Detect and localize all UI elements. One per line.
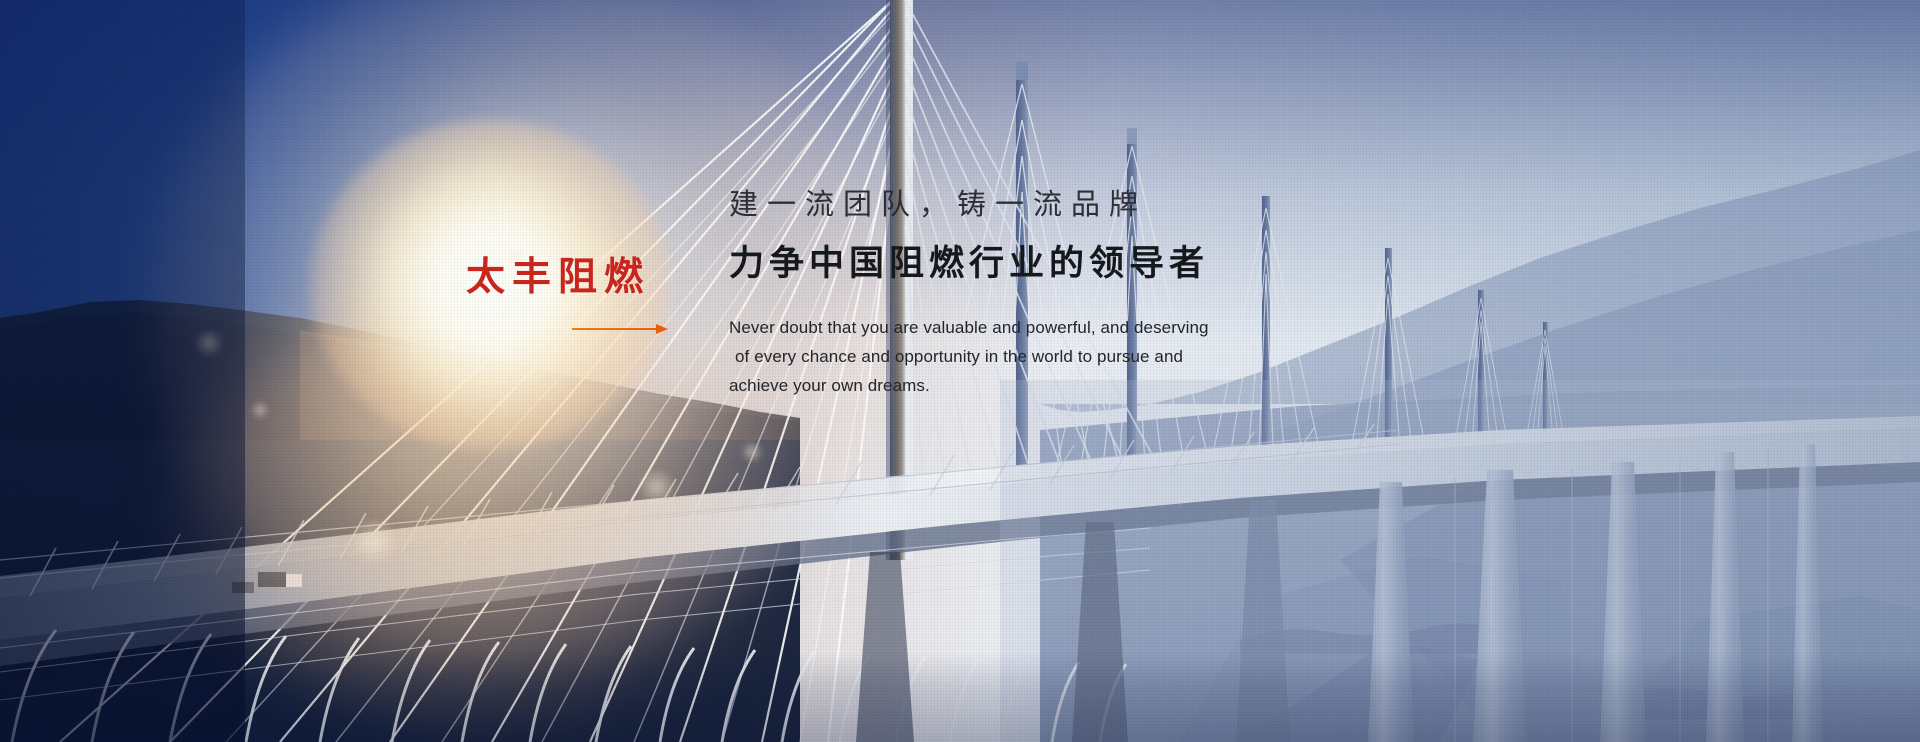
- paragraph-line-1: Never doubt that you are valuable and po…: [729, 313, 1349, 342]
- headline-paragraph: Never doubt that you are valuable and po…: [729, 313, 1349, 400]
- banner-content: 太丰阻燃 建一流团队，铸一流品牌 力争中国阻燃行业的领导者 Never doub…: [0, 0, 1920, 742]
- hero-banner: 太丰阻燃 建一流团队，铸一流品牌 力争中国阻燃行业的领导者 Never doub…: [0, 0, 1920, 742]
- arrow-head: [656, 324, 668, 334]
- headline-title: 力争中国阻燃行业的领导者: [729, 244, 1349, 284]
- paragraph-line-2: of every chance and opportunity in the w…: [729, 342, 1349, 371]
- paragraph-line-3: achieve your own dreams.: [729, 371, 1349, 400]
- brand-logo-text: 太丰阻燃: [466, 258, 696, 297]
- arrow-shaft: [572, 328, 658, 330]
- arrow-right-icon: [572, 323, 668, 335]
- headline-subtitle: 建一流团队，铸一流品牌: [729, 188, 1349, 221]
- headline-copy-block: 建一流团队，铸一流品牌 力争中国阻燃行业的领导者 Never doubt tha…: [729, 188, 1349, 400]
- brand-logo[interactable]: 太丰阻燃: [466, 258, 696, 335]
